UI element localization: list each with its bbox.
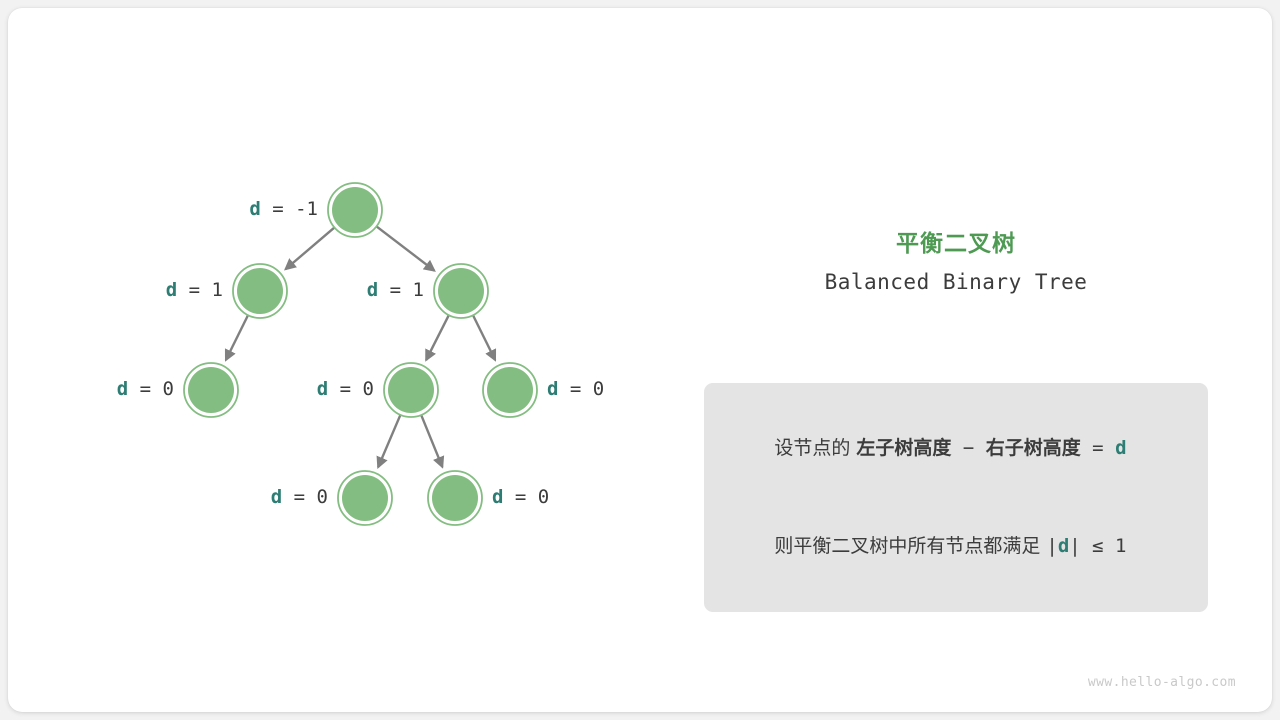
balance-value: = -1 [261,198,318,220]
balance-variable: d [547,378,558,400]
definition-line2-prefix: 则平衡二叉树中所有节点都满足 [774,535,1046,557]
balance-value: = 1 [177,279,223,301]
panel-title-english: Balanced Binary Tree [696,270,1216,294]
tree-node[interactable] [483,363,537,417]
tree-node[interactable] [184,363,238,417]
balance-value: = 0 [128,378,174,400]
balance-variable: d [117,378,128,400]
tree-node-balance-label: d = 0 [271,488,328,507]
panel-title-chinese: 平衡二叉树 [696,230,1216,260]
tree-node-fill [432,475,478,521]
tree-node-fill [388,367,434,413]
balance-value: = 0 [558,378,604,400]
tree-node[interactable] [233,264,287,318]
tree-node-balance-label: d = 1 [166,281,223,300]
page-background: d = -1d = 1d = 1d = 0d = 0d = 0d = 0d = … [0,0,1280,720]
balance-value: = 0 [282,486,328,508]
tree-node-balance-label: d = 0 [317,380,374,399]
definition-line-1: 设节点的 左子树高度 − 右子树高度 = d [726,399,1186,497]
balance-variable: d [249,198,260,220]
tree-node-fill [438,268,484,314]
balance-variable: d [367,279,378,301]
tree-node-balance-label: d = -1 [249,200,318,219]
balance-variable: d [166,279,177,301]
abs-comparison: ≤ 1 [1081,535,1127,557]
tree-node-fill [188,367,234,413]
definition-left-subtree-height: 左子树高度 [856,437,951,459]
definition-equals-operator: = [1081,437,1115,459]
tree-node-fill [237,268,283,314]
definition-line1-prefix: 设节点的 [774,437,856,459]
tree-node[interactable] [338,471,392,525]
tree-edge [226,316,248,360]
tree-edge [473,316,495,360]
tree-node-balance-label: d = 0 [117,380,174,399]
tree-node-fill [487,367,533,413]
tree-node-fill [332,187,378,233]
definition-variable-d: d [1115,437,1126,459]
definition-box: 设节点的 左子树高度 − 右子树高度 = d 则平衡二叉树中所有节点都满足 |d… [704,383,1208,612]
balance-variable: d [271,486,282,508]
abs-bar-close: | [1069,535,1080,557]
balance-variable: d [317,378,328,400]
tree-edge [426,316,449,361]
tree-node-balance-label: d = 1 [367,281,424,300]
legend-panel: 平衡二叉树 Balanced Binary Tree [696,230,1216,294]
tree-node[interactable] [428,471,482,525]
tree-node-fill [342,475,388,521]
tree-edge [285,228,334,269]
definition-right-subtree-height: 右子树高度 [986,437,1081,459]
definition-minus-operator: − [951,437,985,459]
tree-node-balance-label: d = 0 [492,488,549,507]
definition-line-2: 则平衡二叉树中所有节点都满足 |d| ≤ 1 [726,497,1186,595]
abs-variable-d: d [1058,535,1069,557]
tree-edges [226,227,495,467]
tree-edge [421,415,442,467]
diagram-card: d = -1d = 1d = 1d = 0d = 0d = 0d = 0d = … [8,8,1272,712]
balance-value: = 0 [328,378,374,400]
abs-bar-open: | [1046,535,1057,557]
balance-value: = 0 [503,486,549,508]
balance-variable: d [492,486,503,508]
balance-value: = 1 [378,279,424,301]
tree-node-balance-label: d = 0 [547,380,604,399]
tree-node[interactable] [328,183,382,237]
tree-node[interactable] [434,264,488,318]
tree-nodes [184,183,537,525]
tree-edge [378,415,400,467]
site-watermark: www.hello-algo.com [1088,675,1236,690]
tree-edge [377,227,435,271]
tree-node[interactable] [384,363,438,417]
